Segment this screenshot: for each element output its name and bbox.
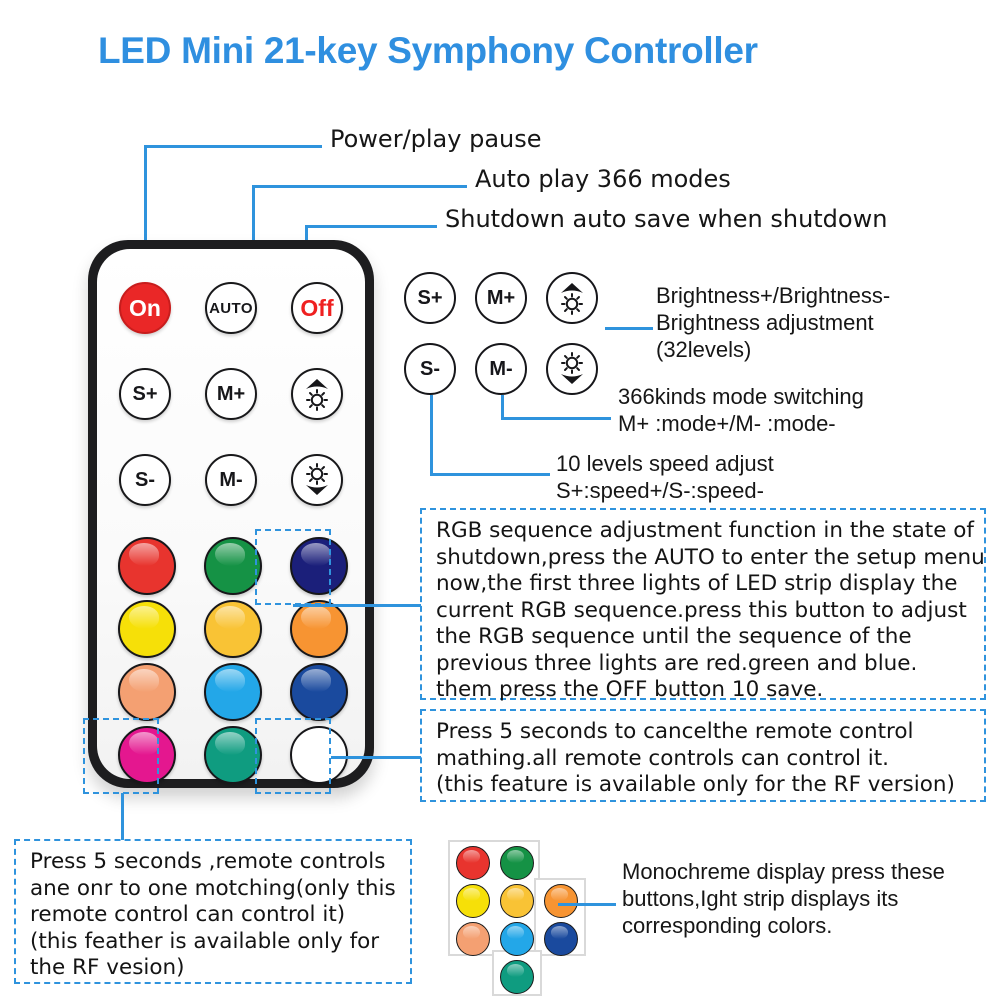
detached-mode-up-button[interactable]: M+	[475, 272, 527, 324]
mode-up-button[interactable]: M+	[205, 368, 257, 420]
callout-power-label: Power/play pause	[330, 126, 542, 153]
leader-line-speed-v	[430, 395, 433, 475]
leader-line-auto-h	[252, 185, 467, 188]
mini-color-peach[interactable]	[456, 922, 490, 956]
color-red-button[interactable]	[118, 537, 176, 595]
speed-up-button[interactable]: S+	[119, 368, 171, 420]
color-yellow-button[interactable]	[118, 600, 176, 658]
mini-color-orange[interactable]	[544, 884, 578, 918]
page-title: LED Mini 21-key Symphony Controller	[98, 30, 758, 72]
color-amber-button[interactable]	[204, 600, 262, 658]
leader-line-speed-h	[430, 473, 550, 476]
leader-line-monochrome	[558, 903, 616, 906]
on-button[interactable]: On	[119, 282, 171, 334]
brightness-down-button[interactable]	[291, 454, 343, 506]
infographic-canvas: LED Mini 21-key Symphony Controller Powe…	[0, 0, 1000, 1000]
color-cyan-button[interactable]	[204, 663, 262, 721]
color-blue-button[interactable]	[290, 663, 348, 721]
color-orange-button[interactable]	[290, 600, 348, 658]
leader-line-shutdown-h	[305, 225, 437, 228]
mini-color-yellow[interactable]	[456, 884, 490, 918]
highlight-magenta-key	[83, 718, 159, 794]
leader-line-mode-v	[501, 395, 504, 419]
leader-line-brightness	[605, 327, 653, 330]
mini-color-teal[interactable]	[500, 960, 534, 994]
annotation-monochrome: Monochreme display press these buttons,I…	[622, 858, 945, 939]
annotation-speed: 10 levels speed adjust S+:speed+/S-:spee…	[556, 450, 774, 504]
leader-line-cancel	[331, 756, 421, 759]
mini-color-cyan[interactable]	[500, 922, 534, 956]
speed-down-button[interactable]: S-	[119, 454, 171, 506]
highlight-navy-key	[255, 529, 331, 605]
detached-speed-up-button[interactable]: S+	[404, 272, 456, 324]
leader-line-power-h	[144, 145, 322, 148]
rgb-sequence-text: RGB sequence adjustment function in the …	[436, 518, 978, 704]
color-peach-button[interactable]	[118, 663, 176, 721]
leader-line-mode-h	[501, 417, 611, 420]
annotation-brightness: Brightness+/Brightness- Brightness adjus…	[656, 282, 890, 363]
mini-color-green[interactable]	[500, 846, 534, 880]
detached-brightness-up-button[interactable]	[546, 272, 598, 324]
one-to-one-callout: Press 5 seconds ,remote controls ane onr…	[14, 839, 412, 984]
annotation-mode: 366kinds mode switching M+ :mode+/M- :mo…	[618, 383, 864, 437]
off-button[interactable]: Off	[291, 282, 343, 334]
mini-color-blue[interactable]	[544, 922, 578, 956]
leader-line-one-to-one	[121, 793, 124, 840]
mode-down-button[interactable]: M-	[205, 454, 257, 506]
sun-up-icon	[297, 374, 337, 414]
sun-down-icon	[297, 460, 337, 500]
remote-control-body: On AUTO Off S+ M+ S- M-	[88, 240, 374, 788]
callout-auto-label: Auto play 366 modes	[475, 166, 731, 193]
highlight-white-key	[255, 718, 331, 794]
leader-line-rgb	[293, 604, 421, 607]
detached-brightness-down-button[interactable]	[546, 343, 598, 395]
sun-up-icon	[552, 278, 592, 318]
callout-shutdown-label: Shutdown auto save when shutdown	[445, 206, 887, 233]
color-teal-button[interactable]	[204, 726, 262, 784]
detached-speed-down-button[interactable]: S-	[404, 343, 456, 395]
detached-mode-down-button[interactable]: M-	[475, 343, 527, 395]
rgb-sequence-callout: RGB sequence adjustment function in the …	[420, 508, 986, 700]
cancel-matching-callout: Press 5 seconds to cancelthe remote cont…	[420, 709, 986, 802]
one-to-one-text: Press 5 seconds ,remote controls ane onr…	[30, 849, 404, 982]
sun-down-icon	[552, 349, 592, 389]
mini-color-amber[interactable]	[500, 884, 534, 918]
mini-color-red[interactable]	[456, 846, 490, 880]
cancel-matching-text: Press 5 seconds to cancelthe remote cont…	[436, 719, 978, 799]
auto-button[interactable]: AUTO	[205, 282, 257, 334]
brightness-up-button[interactable]	[291, 368, 343, 420]
color-green-button[interactable]	[204, 537, 262, 595]
